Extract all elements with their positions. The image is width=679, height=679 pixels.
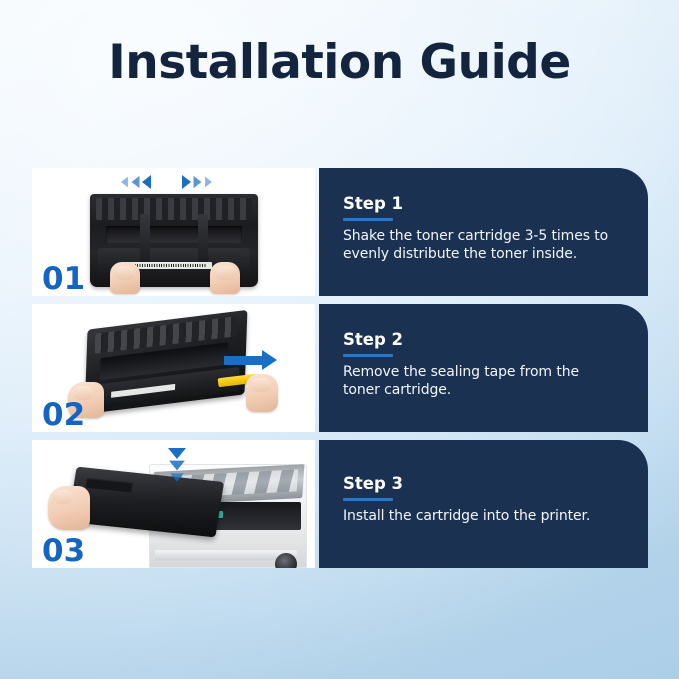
hand-pulling-tape — [246, 374, 278, 412]
hand-right — [210, 262, 240, 294]
cartridge-ribs — [96, 198, 252, 220]
step-3-illustration: 03 — [32, 440, 315, 568]
cartridge-barcode-label — [111, 384, 175, 398]
page-title: Installation Guide — [0, 36, 679, 90]
step-2-illustration: 02 — [32, 304, 315, 432]
shake-right-arrows-icon — [182, 175, 213, 189]
cartridge-drum-slot — [106, 226, 242, 243]
step-1-description: Shake the toner cartridge 3-5 times to e… — [343, 228, 615, 263]
step-1-heading: Step 1 — [343, 194, 626, 213]
step-row-3: 03 Step 3 Install the cartridge into the… — [32, 440, 648, 568]
step-number-02: 02 — [42, 398, 85, 432]
hand-left — [110, 262, 140, 294]
hand-holding-cartridge — [48, 486, 90, 530]
step-row-1: 01 Step 1 Shake the toner cartridge 3-5 … — [32, 168, 648, 296]
step-2-accent-bar — [343, 354, 393, 357]
step-row-2: 02 Step 2 Remove the sealing tape from t… — [32, 304, 648, 432]
step-2-text-panel: Step 2 Remove the sealing tape from the … — [319, 304, 648, 432]
cartridge-side-tab-left — [140, 214, 150, 262]
pull-direction-arrow-icon — [224, 354, 278, 366]
cartridge-barcode-label — [126, 262, 212, 269]
step-3-text-panel: Step 3 Install the cartridge into the pr… — [319, 440, 648, 568]
steps-list: 01 Step 1 Shake the toner cartridge 3-5 … — [32, 168, 648, 568]
step-number-01: 01 — [42, 262, 85, 296]
installation-guide-page: Installation Guide — [0, 0, 679, 679]
step-number-03: 03 — [42, 534, 85, 568]
toner-cartridge-angled — [85, 310, 248, 414]
insert-direction-arrows-icon — [168, 448, 186, 483]
step-3-accent-bar — [343, 498, 393, 501]
step-2-description: Remove the sealing tape from the toner c… — [343, 364, 615, 399]
shake-left-arrows-icon — [120, 175, 151, 189]
step-3-heading: Step 3 — [343, 474, 626, 493]
step-1-accent-bar — [343, 218, 393, 221]
cartridge-side-tab-right — [198, 214, 208, 262]
step-1-text-panel: Step 1 Shake the toner cartridge 3-5 tim… — [319, 168, 648, 296]
step-2-heading: Step 2 — [343, 330, 626, 349]
step-1-illustration: 01 — [32, 168, 315, 296]
step-3-description: Install the cartridge into the printer. — [343, 508, 626, 526]
